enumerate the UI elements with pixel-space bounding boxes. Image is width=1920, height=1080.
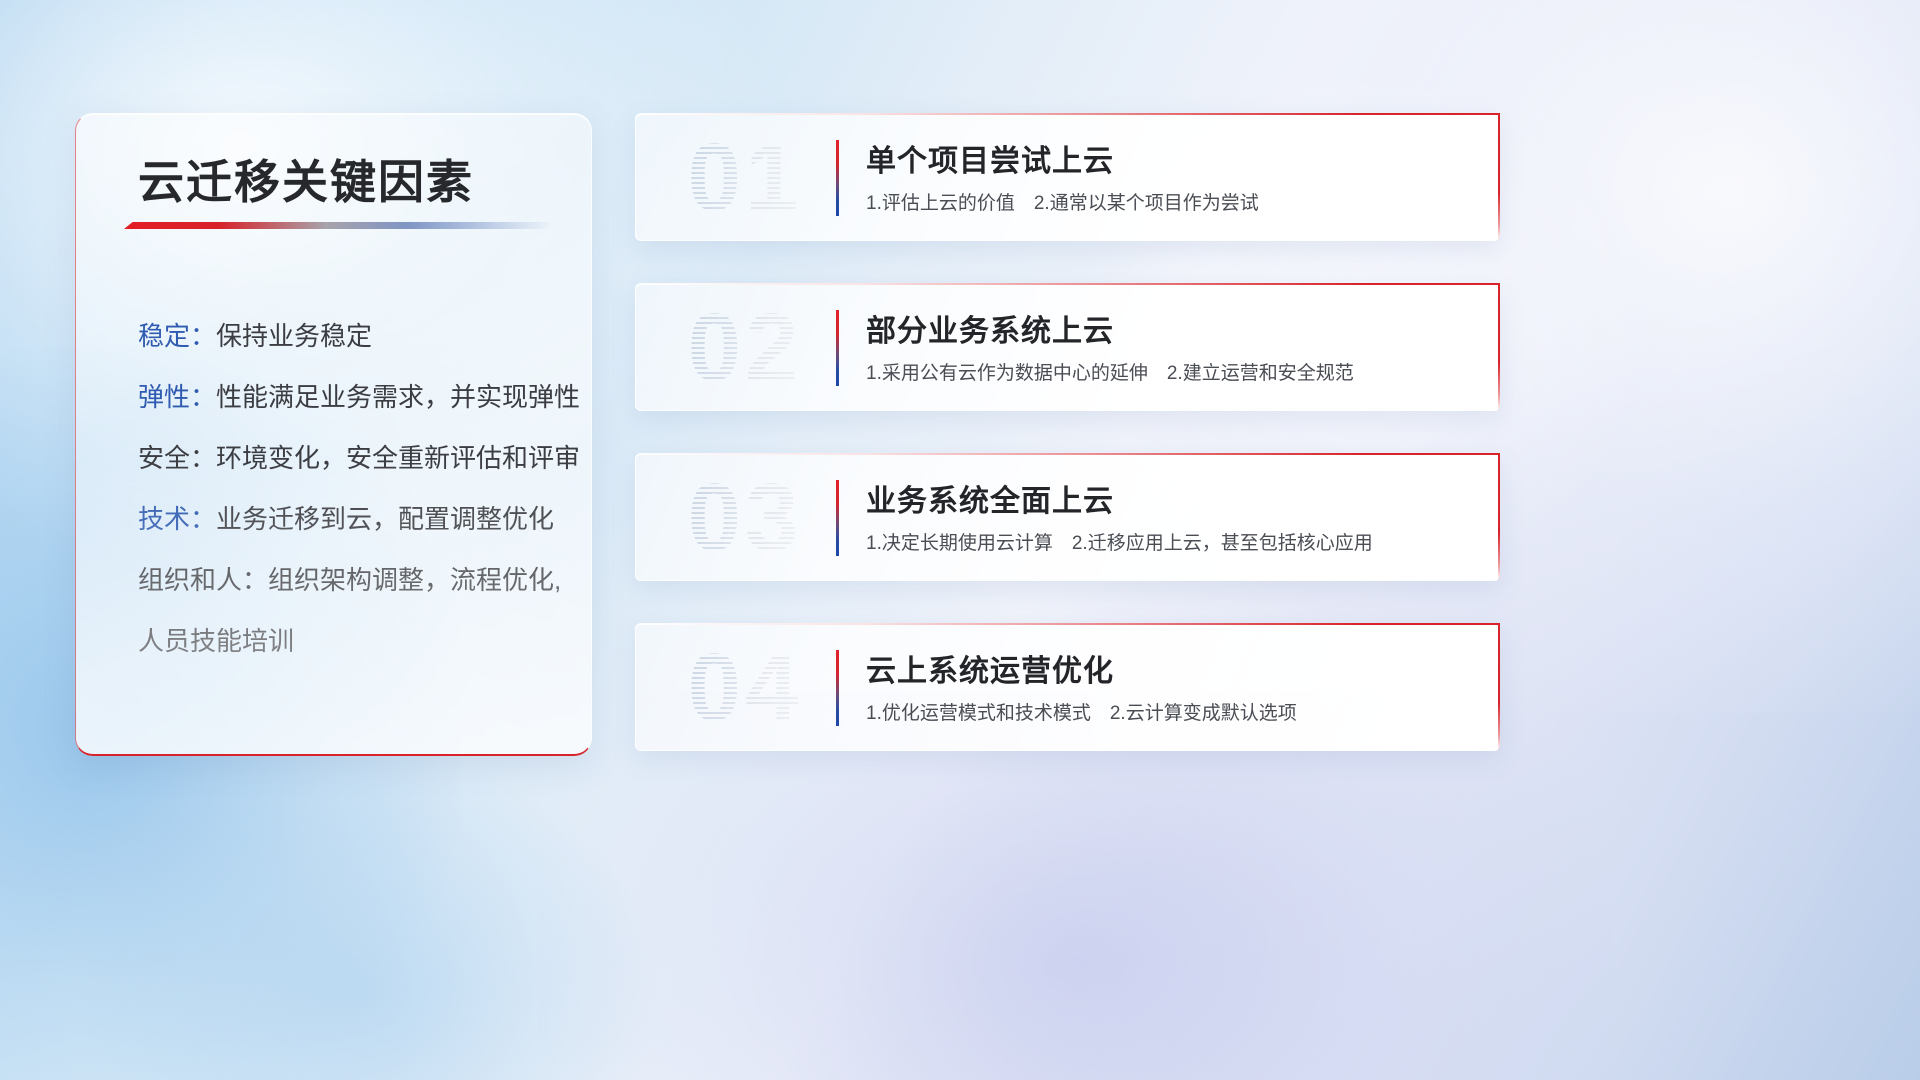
card-title: 业务系统全面上云 bbox=[866, 476, 1114, 520]
key-factor-row: 组织和人：组织架构调整，流程优化, bbox=[138, 550, 565, 611]
key-factor-text: 人员技能培训 bbox=[138, 626, 294, 656]
card-title: 部分业务系统上云 bbox=[866, 306, 1114, 350]
key-factor-row: 弹性：性能满足业务需求，并实现弹性 bbox=[138, 367, 565, 428]
key-factor-label: 安全： bbox=[138, 443, 216, 473]
card-accent-bar bbox=[836, 310, 839, 386]
stage-card[interactable]: 04云上系统运营优化1.优化运营模式和技术模式 2.云计算变成默认选项 bbox=[635, 623, 1500, 751]
stage-number-text: 01 bbox=[688, 123, 803, 233]
card-description: 1.采用公有云作为数据中心的延伸 2.建立运营和安全规范 bbox=[866, 358, 1354, 385]
key-factors-panel: 云迁移关键因素 稳定：保持业务稳定弹性：性能满足业务需求，并实现弹性安全：环境变… bbox=[75, 113, 592, 756]
key-factor-label: 技术： bbox=[138, 504, 216, 534]
key-factor-text: 性能满足业务需求，并实现弹性 bbox=[216, 382, 580, 412]
key-factor-row: 安全：环境变化，安全重新评估和评审 bbox=[138, 428, 565, 489]
card-description: 1.优化运营模式和技术模式 2.云计算变成默认选项 bbox=[866, 698, 1297, 725]
key-factor-row: 技术：业务迁移到云，配置调整优化 bbox=[138, 489, 565, 550]
card-title: 云上系统运营优化 bbox=[866, 646, 1114, 690]
key-factor-label: 弹性： bbox=[138, 382, 216, 412]
title-underline-accent bbox=[124, 222, 554, 229]
key-factor-text: 业务迁移到云，配置调整优化 bbox=[216, 504, 554, 534]
stage-number-text: 02 bbox=[688, 293, 803, 403]
key-factor-text: 环境变化，安全重新评估和评审 bbox=[216, 443, 580, 473]
key-factor-label: 稳定： bbox=[138, 321, 216, 351]
card-title: 单个项目尝试上云 bbox=[866, 136, 1114, 180]
key-factors-list: 稳定：保持业务稳定弹性：性能满足业务需求，并实现弹性安全：环境变化，安全重新评估… bbox=[138, 306, 565, 672]
stage-number-watermark: 01 bbox=[660, 122, 830, 234]
key-factor-label: 组织和人： bbox=[138, 565, 268, 595]
card-accent-bar bbox=[836, 140, 839, 216]
stage-number-watermark: 03 bbox=[660, 462, 830, 574]
card-description: 1.评估上云的价值 2.通常以某个项目作为尝试 bbox=[866, 188, 1259, 215]
stage-card[interactable]: 02部分业务系统上云1.采用公有云作为数据中心的延伸 2.建立运营和安全规范 bbox=[635, 283, 1500, 411]
key-factor-row: 稳定：保持业务稳定 bbox=[138, 306, 565, 367]
stage-number-watermark: 02 bbox=[660, 292, 830, 404]
card-accent-bar bbox=[836, 650, 839, 726]
key-factor-text: 保持业务稳定 bbox=[216, 321, 372, 351]
slide-stage: 云迁移关键因素 稳定：保持业务稳定弹性：性能满足业务需求，并实现弹性安全：环境变… bbox=[0, 0, 1920, 1080]
stage-number-text: 03 bbox=[688, 463, 803, 573]
stage-number-text: 04 bbox=[688, 633, 803, 743]
stage-card[interactable]: 03业务系统全面上云1.决定长期使用云计算 2.迁移应用上云，甚至包括核心应用 bbox=[635, 453, 1500, 581]
card-description: 1.决定长期使用云计算 2.迁移应用上云，甚至包括核心应用 bbox=[866, 528, 1373, 555]
stage-card[interactable]: 01单个项目尝试上云1.评估上云的价值 2.通常以某个项目作为尝试 bbox=[635, 113, 1500, 241]
page-title: 云迁移关键因素 bbox=[138, 146, 474, 212]
key-factor-text: 组织架构调整，流程优化, bbox=[268, 565, 561, 595]
cloud-journey-stage-cards: 01单个项目尝试上云1.评估上云的价值 2.通常以某个项目作为尝试02部分业务系… bbox=[635, 113, 1500, 793]
stage-number-watermark: 04 bbox=[660, 632, 830, 744]
key-factor-row: 人员技能培训 bbox=[138, 611, 565, 672]
card-accent-bar bbox=[836, 480, 839, 556]
